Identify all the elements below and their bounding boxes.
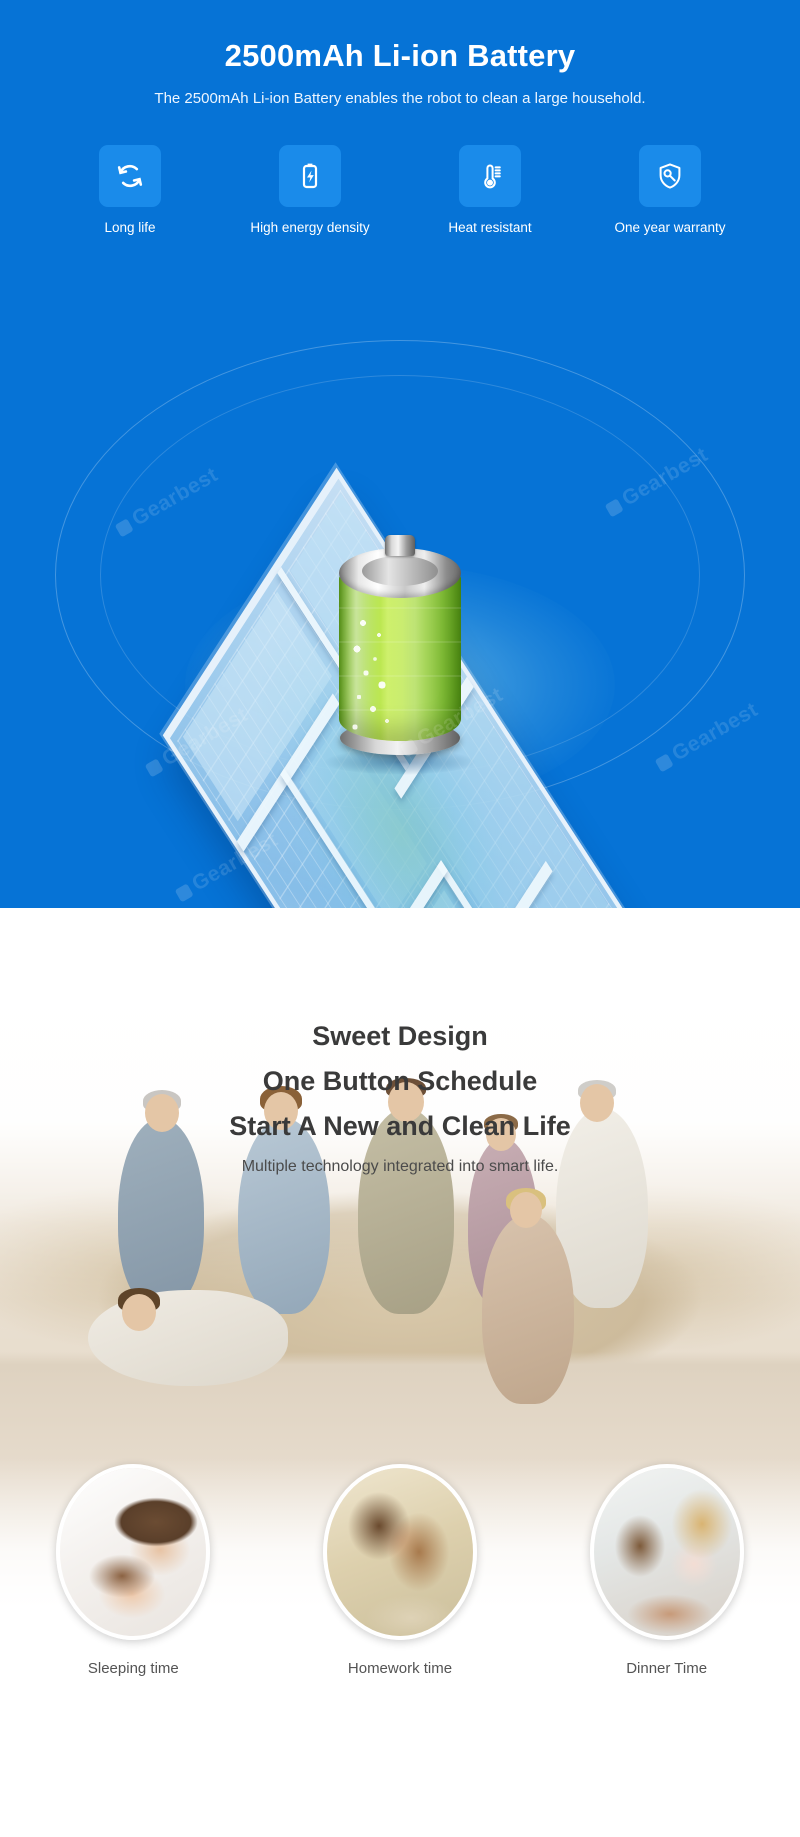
- sweet-design-section: Sweet Design One Button Schedule Start A…: [0, 908, 800, 1837]
- feature-item-heat-resistant[interactable]: Heat resistant: [408, 145, 573, 235]
- page-subtitle: The 2500mAh Li-ion Battery enables the r…: [0, 90, 800, 107]
- battery-illustration: [0, 255, 800, 895]
- kitchen-baking-photo[interactable]: [590, 1464, 744, 1640]
- thermometer-icon: [459, 145, 521, 207]
- heading-line-3: Start A New and Clean Life: [0, 1111, 800, 1142]
- heading-line-1: Sweet Design: [0, 1021, 800, 1052]
- scene-item-sleeping-time[interactable]: Sleeping time: [18, 1464, 248, 1677]
- refresh-cycle-icon: [99, 145, 161, 207]
- feature-item-one-year-warranty[interactable]: One year warranty: [588, 145, 753, 235]
- scene-item-dinner-time[interactable]: Dinner Time: [552, 1464, 782, 1677]
- shield-wrench-icon: [639, 145, 701, 207]
- feature-item-high-energy-density[interactable]: High energy density: [228, 145, 393, 235]
- scene-thumbnail-row: Sleeping time Homework time Dinner Time: [0, 1464, 800, 1724]
- scene-label: Homework time: [348, 1660, 452, 1677]
- battery-bolt-icon: [279, 145, 341, 207]
- family-subtitle: Multiple technology integrated into smar…: [0, 1158, 800, 1176]
- scene-label: Dinner Time: [626, 1660, 707, 1677]
- scene-label: Sleeping time: [88, 1660, 179, 1677]
- feature-label: Heat resistant: [448, 220, 531, 235]
- page-title: 2500mAh Li-ion Battery: [0, 38, 800, 74]
- sleeping-couple-photo[interactable]: [56, 1464, 210, 1640]
- feature-item-long-life[interactable]: Long life: [48, 145, 213, 235]
- feature-icon-row: Long life High energy density Heat r: [40, 145, 760, 260]
- scene-item-homework-time[interactable]: Homework time: [285, 1464, 515, 1677]
- feature-label: Long life: [104, 220, 155, 235]
- feature-label: One year warranty: [614, 220, 725, 235]
- battery-feature-section: 2500mAh Li-ion Battery The 2500mAh Li-io…: [0, 0, 800, 908]
- girls-homework-photo[interactable]: [323, 1464, 477, 1640]
- heading-line-2: One Button Schedule: [0, 1066, 800, 1097]
- feature-label: High energy density: [250, 220, 369, 235]
